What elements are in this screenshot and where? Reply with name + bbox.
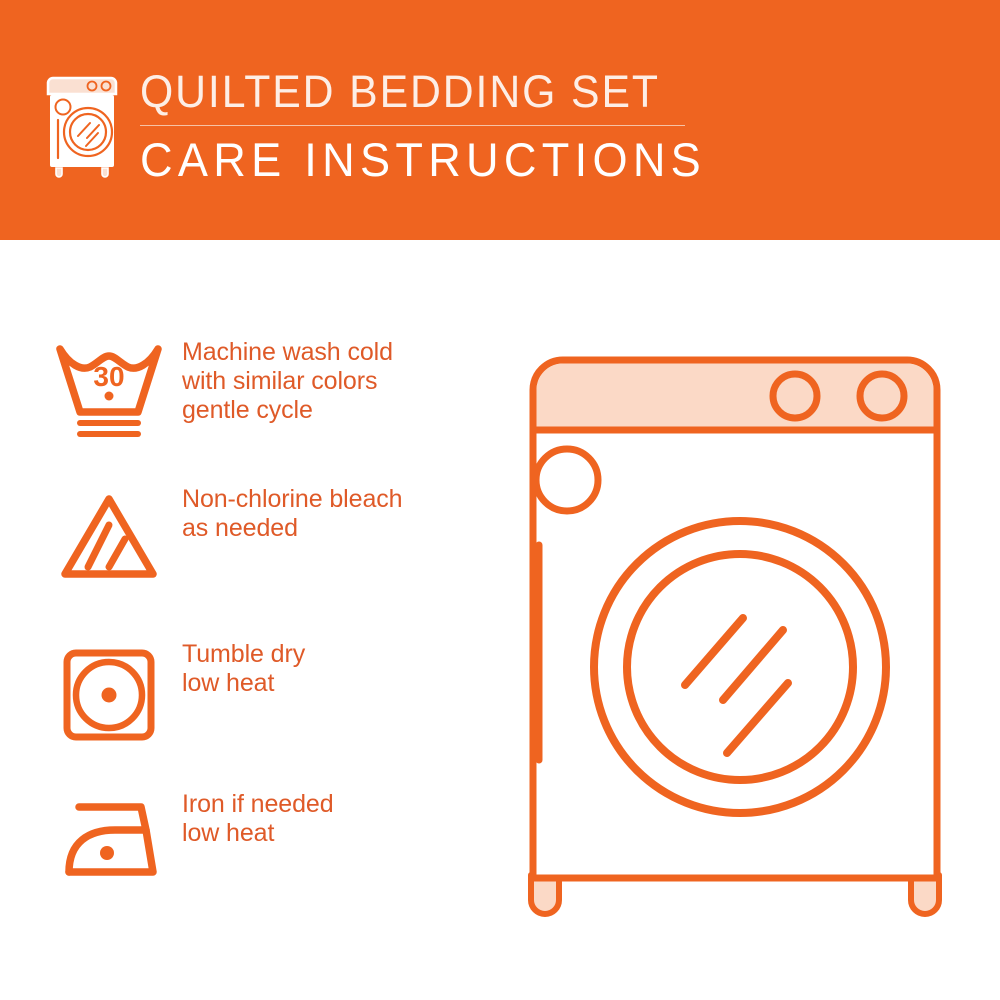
care-line: with similar colors [182, 367, 393, 396]
care-text-machine-wash: Machine wash cold with similar colors ge… [174, 338, 393, 425]
care-line: low heat [182, 669, 305, 698]
wash-tub-icon: 30 [44, 338, 174, 443]
care-line: Machine wash cold [182, 338, 393, 367]
care-line: low heat [182, 819, 334, 848]
care-text-iron: Iron if needed low heat [174, 790, 334, 848]
title-divider [140, 125, 685, 126]
care-line: Non-chlorine bleach [182, 485, 402, 514]
care-line: Tumble dry [182, 640, 305, 669]
washing-machine-illustration [495, 330, 975, 930]
header-title-block: QUILTED BEDDING SET CARE INSTRUCTIONS [140, 66, 760, 187]
tumble-dry-icon [44, 640, 174, 745]
care-line: Iron if needed [182, 790, 334, 819]
care-row-iron: Iron if needed low heat [44, 790, 524, 890]
care-text-bleach: Non-chlorine bleach as needed [174, 485, 402, 543]
care-text-tumble-dry: Tumble dry low heat [174, 640, 305, 698]
page-title-secondary: CARE INSTRUCTIONS [140, 133, 735, 187]
care-instructions-page: QUILTED BEDDING SET CARE INSTRUCTIONS 30… [0, 0, 1000, 1000]
page-title-primary: QUILTED BEDDING SET [140, 66, 729, 118]
washing-machine-icon [44, 74, 124, 178]
care-line: as needed [182, 514, 402, 543]
wash-temperature-label: 30 [93, 361, 124, 392]
care-row-tumble-dry: Tumble dry low heat [44, 640, 524, 745]
bleach-triangle-icon [44, 485, 174, 585]
iron-icon [44, 790, 174, 890]
care-row-bleach: Non-chlorine bleach as needed [44, 485, 524, 585]
care-row-machine-wash: 30 Machine wash cold with similar colors… [44, 338, 524, 443]
care-line: gentle cycle [182, 396, 393, 425]
header-banner: QUILTED BEDDING SET CARE INSTRUCTIONS [0, 0, 1000, 240]
